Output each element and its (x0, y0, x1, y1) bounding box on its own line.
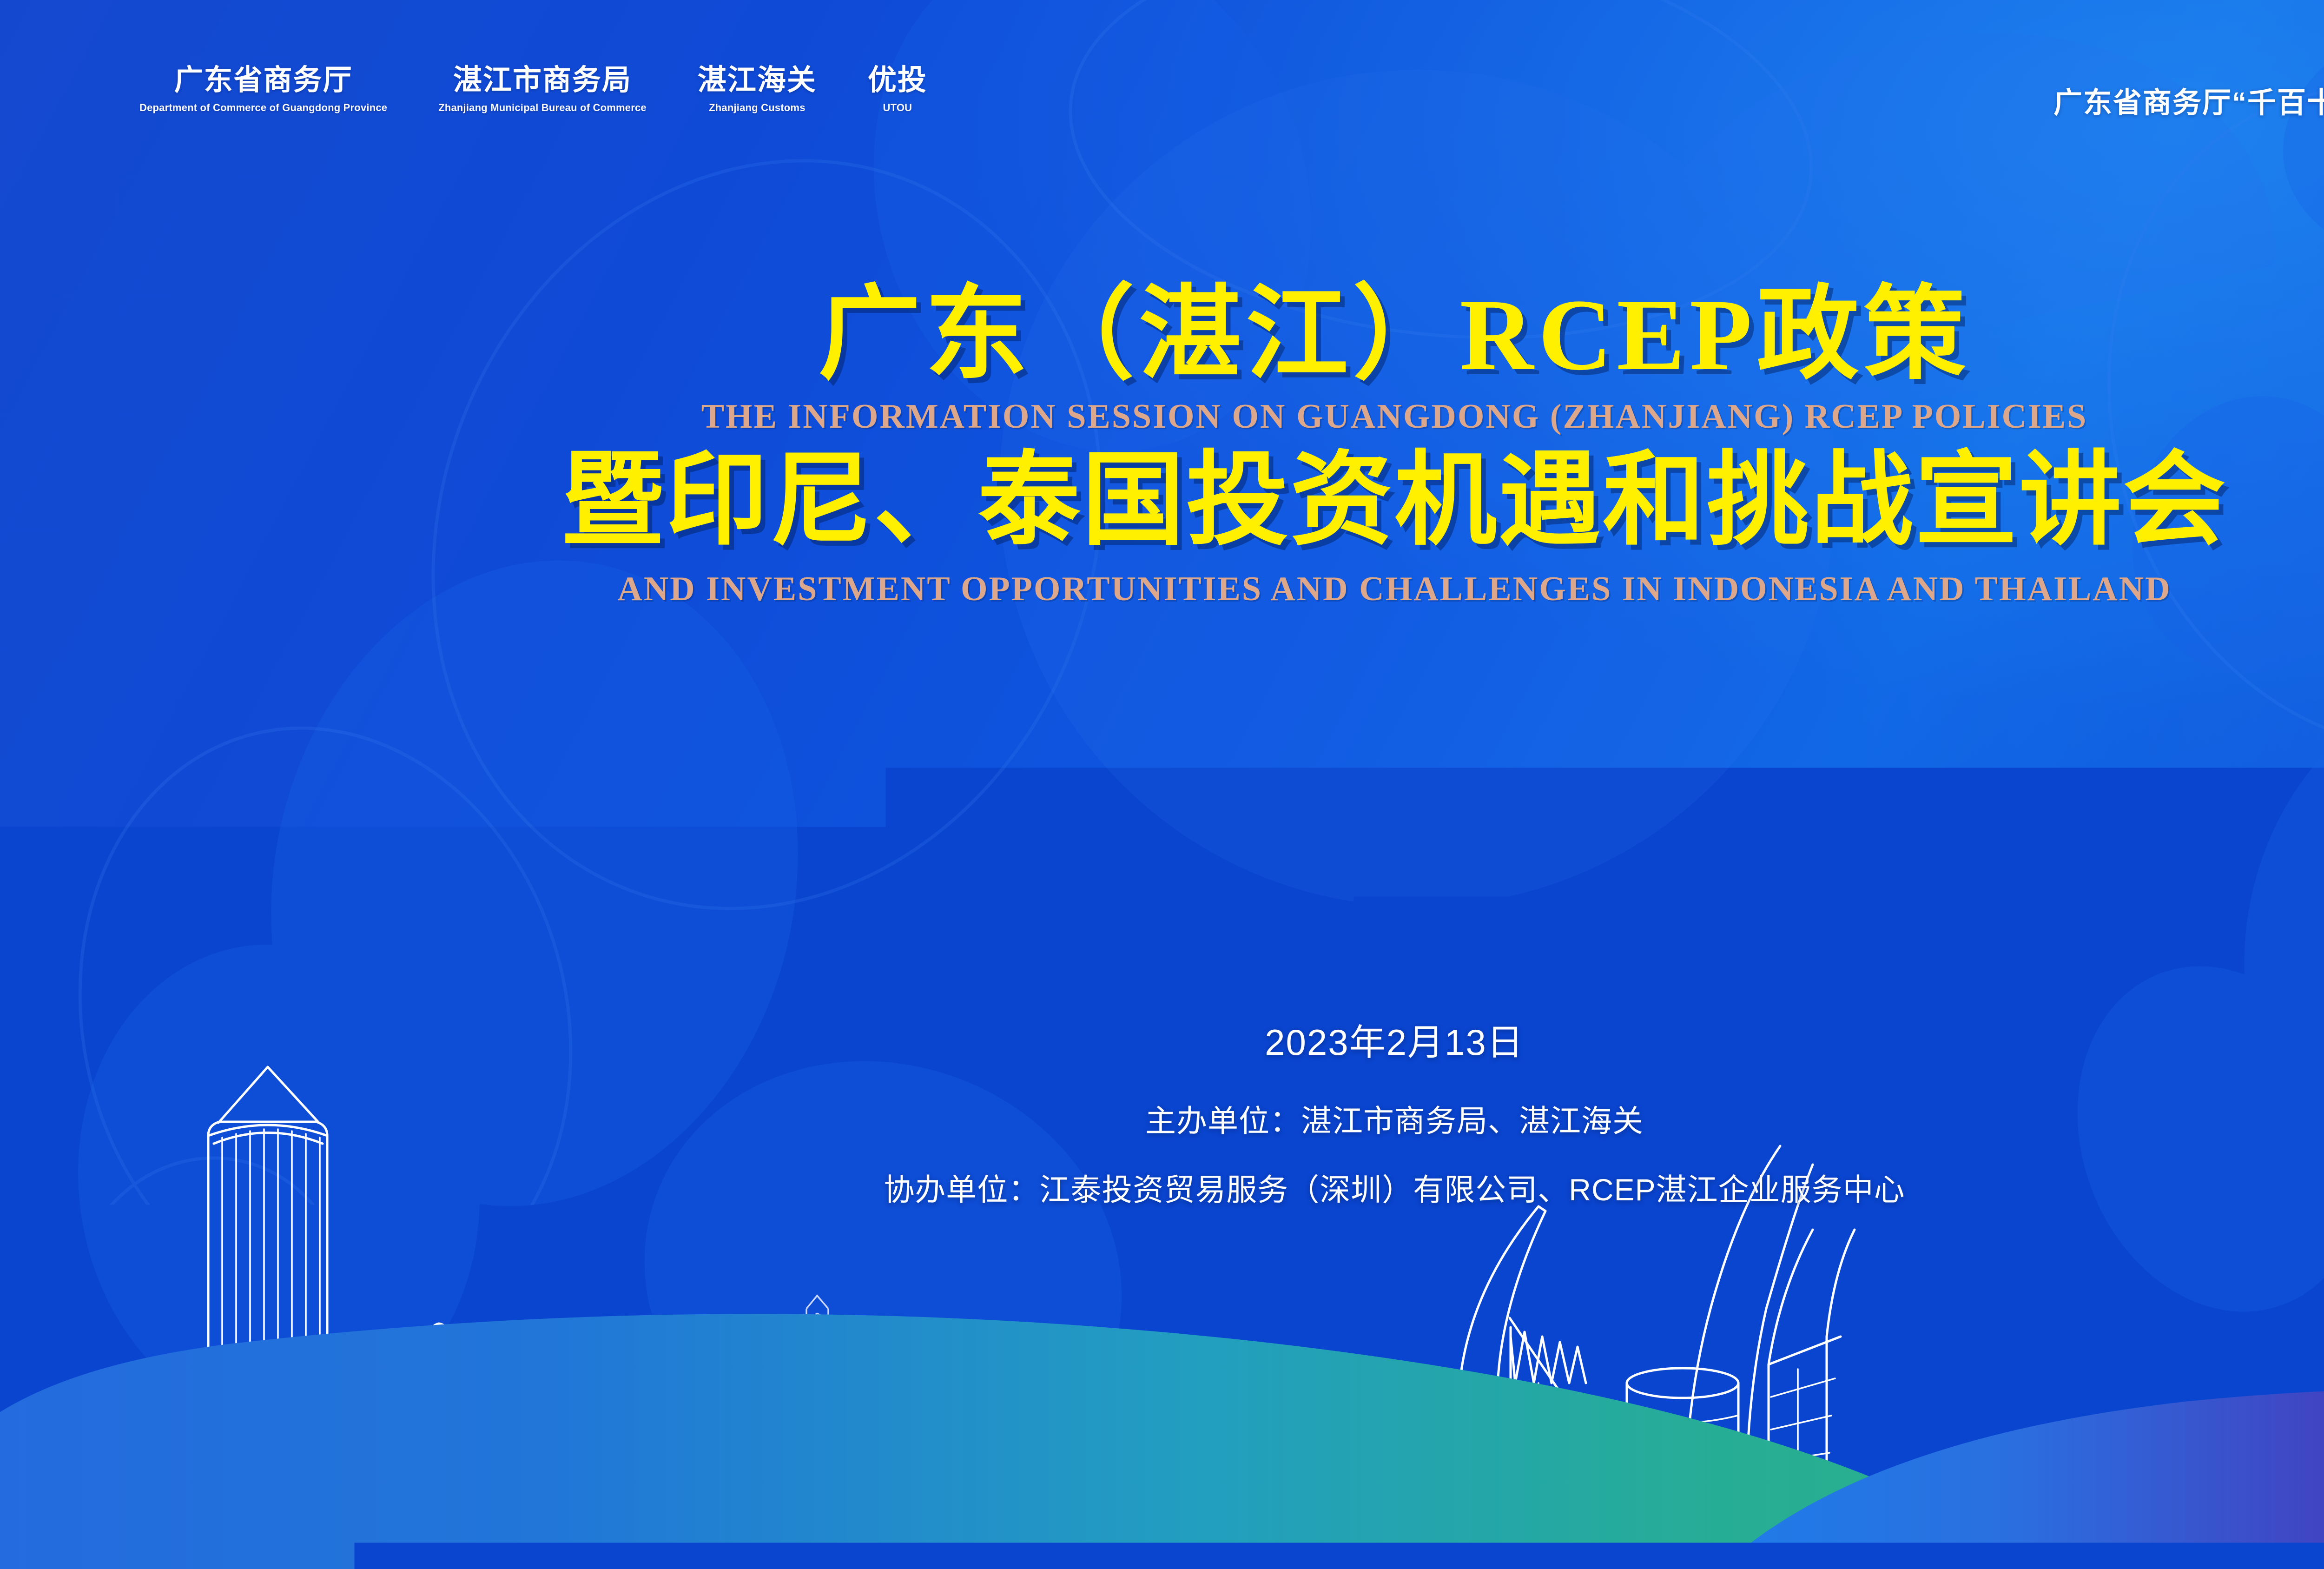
main-subtitle-line1: THE INFORMATION SESSION ON GUANGDONG (ZH… (0, 398, 2324, 436)
title-block: 广东（湛江）RCEP政策 THE INFORMATION SESSION ON … (0, 284, 2324, 609)
logo-guangdong-commerce: 广东省商务厅 Department of Commerce of Guangdo… (139, 65, 387, 114)
main-title-line2: 暨印尼、泰国投资机遇和挑战宣讲会 (0, 450, 2324, 552)
main-title-line1: 广东（湛江）RCEP政策 (0, 284, 2324, 386)
logo-en-name: Department of Commerce of Guangdong Prov… (139, 102, 387, 114)
logo-zhanjiang-commerce: 湛江市商务局 Zhanjiang Municipal Bureau of Com… (438, 65, 647, 114)
logo-utou: 优投 UTOU (868, 65, 927, 114)
logo-en-name: Zhanjiang Customs (709, 102, 805, 114)
logo-cn-name: 湛江海关 (698, 65, 817, 95)
main-subtitle-line2: AND INVESTMENT OPPORTUNITIES AND CHALLEN… (0, 570, 2324, 608)
event-info-block: 2023年2月13日 主办单位：湛江市商务局、湛江海关 协办单位：江泰投资贸易服… (0, 1013, 2324, 1210)
event-date: 2023年2月13日 (0, 1013, 2324, 1066)
logo-en-name: Zhanjiang Municipal Bureau of Commerce (438, 102, 647, 114)
logo-cn-name: 优投 (868, 65, 927, 95)
logo-cn-name: 湛江市商务局 (453, 65, 632, 95)
logo-en-name: UTOU (883, 102, 912, 114)
foreground-hills (0, 1244, 2324, 1569)
sponsor-logo-row: 广东省商务厅 Department of Commerce of Guangdo… (139, 65, 927, 114)
series-training-title: 广东省商务厅“千百十”综合服务项目系列培训 (2053, 79, 2324, 121)
event-poster: 广东省商务厅 Department of Commerce of Guangdo… (0, 0, 2324, 1569)
organizer-line: 主办单位：湛江市商务局、湛江海关 (0, 1096, 2324, 1141)
co-organizer-line: 协办单位：江泰投资贸易服务（深圳）有限公司、RCEP湛江企业服务中心 (0, 1165, 2324, 1210)
logo-zhanjiang-customs: 湛江海关 Zhanjiang Customs (698, 65, 817, 114)
logo-cn-name: 广东省商务厅 (174, 65, 353, 95)
